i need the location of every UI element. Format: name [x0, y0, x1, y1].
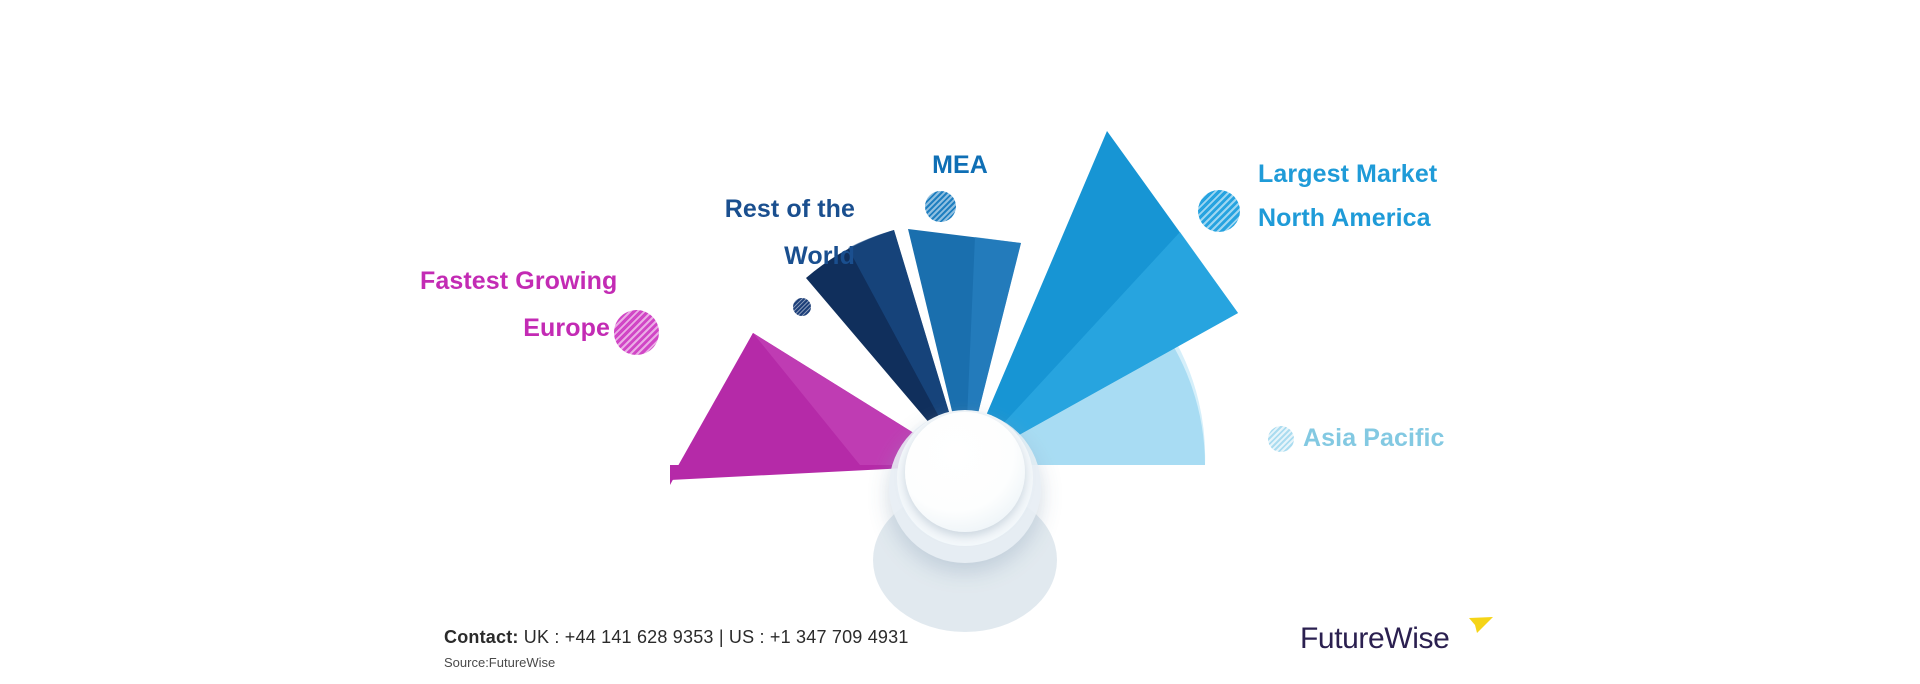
hatched-circle-navy-icon: [793, 298, 811, 316]
hatched-circle-light-blue-icon: [1268, 426, 1294, 452]
regional-fan-chart: [0, 0, 1920, 684]
contact-value: UK : +44 141 628 9353 | US : +1 347 709 …: [524, 627, 909, 647]
hatched-circle-magenta-icon: [614, 310, 659, 355]
futurewise-logo: FutureWise: [1300, 622, 1449, 662]
label-asia-pacific-line1: Asia Pacific: [1303, 423, 1523, 453]
center-hub: [889, 410, 1041, 563]
label-asia-pacific: Asia Pacific: [1303, 423, 1523, 453]
footer-contact: Contact: UK : +44 141 628 9353 | US : +1…: [444, 627, 909, 648]
label-rest-of-world: Rest of the World: [640, 186, 855, 280]
contact-label: Contact:: [444, 627, 519, 647]
hatched-circle-blue-icon: [925, 191, 956, 222]
hatched-circle-bright-blue-icon: [1198, 190, 1240, 232]
futurewise-logo-text: FutureWise: [1300, 622, 1449, 655]
futurewise-arrow-icon: [1468, 616, 1494, 642]
label-north-america: Largest Market North America: [1258, 152, 1508, 240]
fan-chart-svg: [0, 0, 1920, 684]
label-north-america-line1: Largest Market: [1258, 152, 1508, 196]
label-mea: MEA: [880, 145, 1040, 185]
label-europe: Fastest Growing Europe: [420, 258, 610, 352]
label-mea-line1: MEA: [880, 145, 1040, 185]
label-europe-line2: Europe: [420, 305, 610, 352]
label-rest-of-world-line2: World: [640, 233, 855, 280]
label-europe-line1: Fastest Growing: [420, 258, 610, 305]
label-rest-of-world-line1: Rest of the: [640, 186, 855, 233]
infographic-canvas: Fastest Growing Europe Rest of the World…: [0, 0, 1920, 684]
footer-source: Source:FutureWise: [444, 655, 555, 670]
label-north-america-line2: North America: [1258, 196, 1508, 240]
